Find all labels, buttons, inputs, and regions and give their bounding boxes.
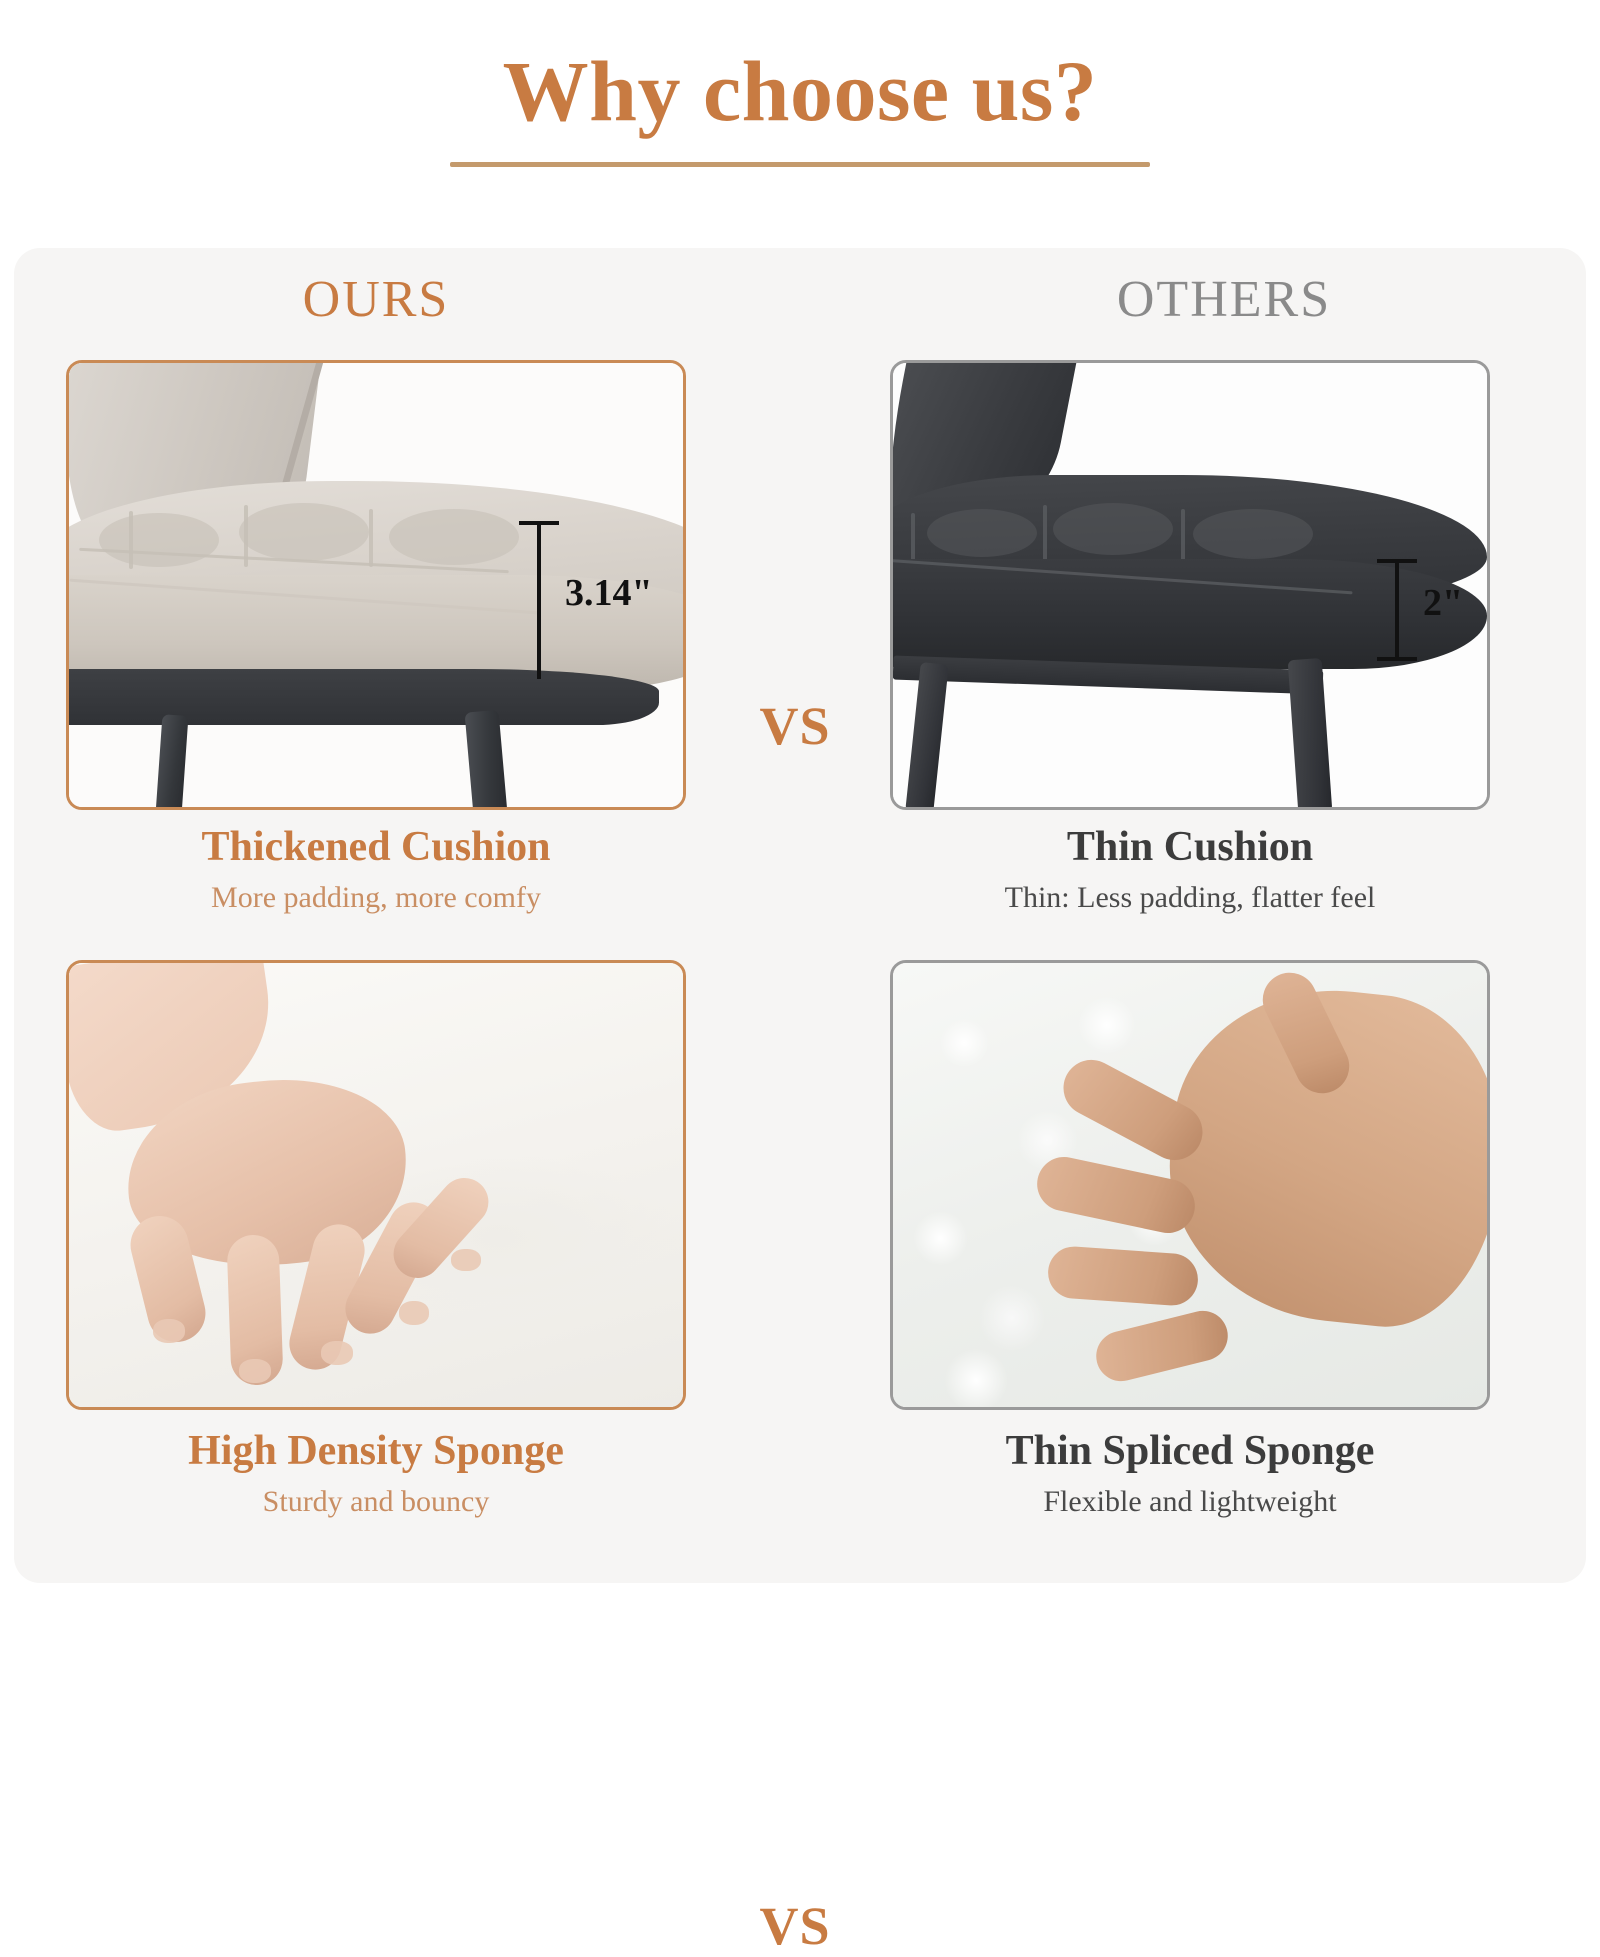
column-heading-others: OTHERS [914, 270, 1534, 329]
vs-separator-row1: VS [710, 695, 880, 757]
dimension-line [1395, 559, 1399, 659]
page-header: Why choose us? [0, 0, 1600, 167]
ours-sponge-title: High Density Sponge [66, 1426, 686, 1476]
dimension-line [537, 521, 541, 679]
chair-leg [905, 662, 949, 810]
cushion-tuft [927, 509, 1037, 557]
others-sponge-title: Thin Spliced Sponge [890, 1426, 1490, 1476]
fingernail [451, 1249, 481, 1271]
ours-sponge-image-frame [66, 960, 686, 1410]
title-underline-rule [450, 162, 1150, 167]
chair-leg [156, 714, 189, 810]
cushion-seam [369, 509, 373, 567]
cushion-seam [244, 505, 248, 567]
others-cushion-caption: Thin Cushion Thin: Less padding, flatter… [890, 822, 1490, 919]
comparison-row-cushion: 3.14" VS [14, 360, 1586, 920]
ours-cushion-caption: Thickened Cushion More padding, more com… [66, 822, 686, 919]
others-dimension-label: 2" [1423, 581, 1463, 625]
comparison-row-sponge: VS High Density Sponge Sturdy and bouncy… [14, 960, 1586, 1520]
finger-ring [1046, 1245, 1199, 1307]
cushion-tuft [1193, 509, 1313, 559]
cushion-seam [129, 511, 133, 569]
others-sponge-image-frame [890, 960, 1490, 1410]
page-title: Why choose us? [0, 46, 1600, 136]
fingernail [239, 1359, 271, 1383]
ours-dimension-label: 3.14" [565, 571, 653, 615]
chair-leg [1288, 658, 1333, 810]
comparison-card: OURS OTHERS [14, 248, 1586, 1583]
dimension-cap-bottom [1377, 657, 1417, 661]
fingernail [153, 1319, 185, 1343]
others-sponge-caption: Thin Spliced Sponge Flexible and lightwe… [890, 1426, 1490, 1523]
cushion-tuft [1053, 503, 1173, 555]
chair-seat-base-shape [66, 669, 659, 725]
others-cushion-subtitle: Thin: Less padding, flatter feel [890, 878, 1490, 919]
cushion-tuft [99, 513, 219, 567]
ours-cushion-image-frame: 3.14" [66, 360, 686, 810]
cushion-tuft [239, 503, 369, 561]
column-headings: OURS OTHERS [14, 270, 1586, 340]
hand-pressing-high-density-foam-photo [69, 963, 683, 1407]
others-sponge-subtitle: Flexible and lightweight [890, 1482, 1490, 1523]
ours-sponge-caption: High Density Sponge Sturdy and bouncy [66, 1426, 686, 1523]
hand-pressing-loose-fiber-fill-photo [893, 963, 1487, 1407]
column-heading-ours: OURS [66, 270, 686, 329]
others-cushion-image-frame: 2" [890, 360, 1490, 810]
fingernail [399, 1301, 429, 1325]
cushion-seam [1181, 509, 1185, 563]
others-cushion-title: Thin Cushion [890, 822, 1490, 872]
cushion-seam [1043, 505, 1047, 563]
ours-sponge-subtitle: Sturdy and bouncy [66, 1482, 686, 1523]
ours-cushion-subtitle: More padding, more comfy [66, 878, 686, 919]
vs-separator-row2: VS [710, 1895, 880, 1957]
cushion-tuft [389, 509, 519, 565]
fingernail [321, 1341, 353, 1365]
ours-cushion-title: Thickened Cushion [66, 822, 686, 872]
